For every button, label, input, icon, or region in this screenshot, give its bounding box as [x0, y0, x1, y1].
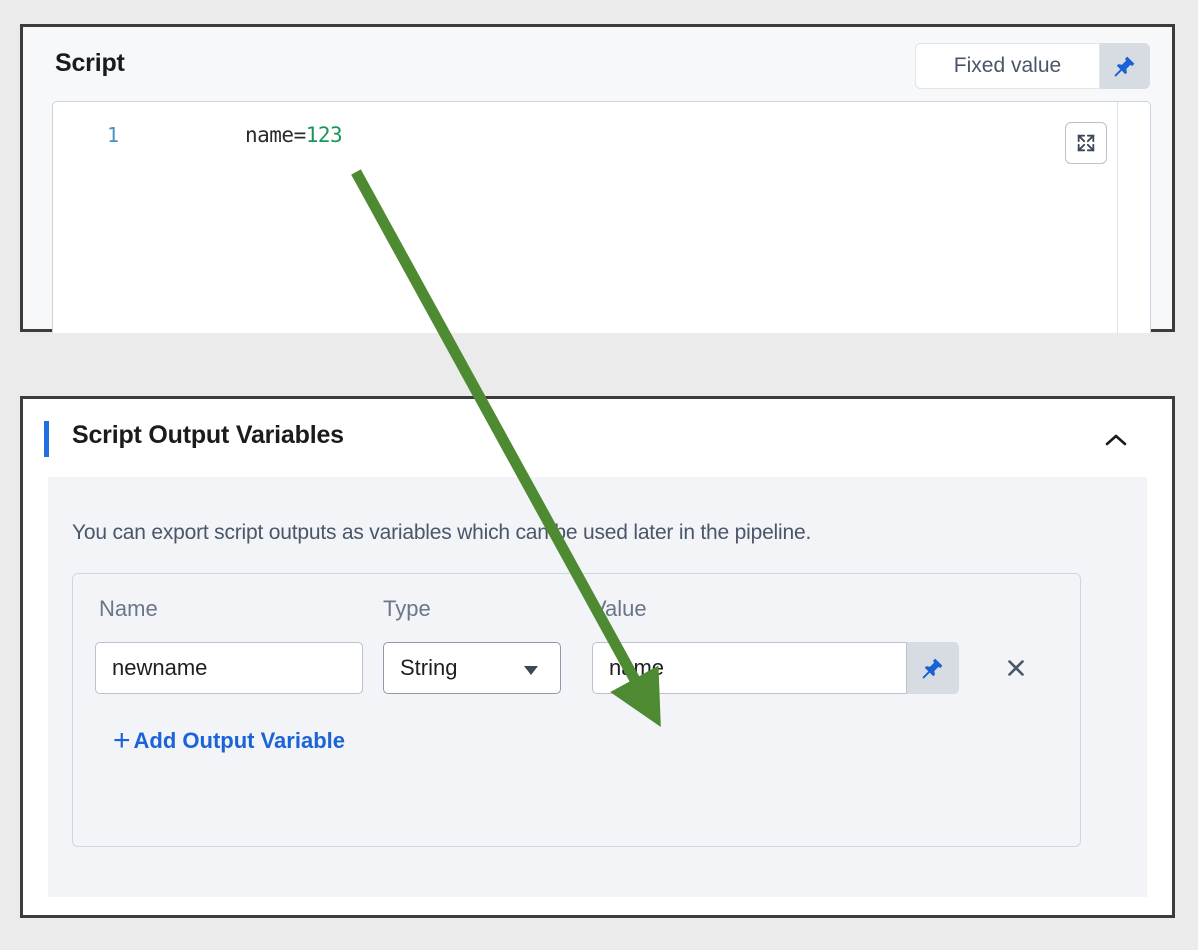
add-output-variable-label: Add Output Variable: [134, 728, 345, 754]
editor-scrollbar[interactable]: [1117, 102, 1150, 333]
column-header-value: Value: [592, 596, 647, 622]
script-code-editor[interactable]: 1 name=123: [52, 101, 1151, 333]
output-variables-body: You can export script outputs as variabl…: [48, 477, 1147, 897]
code-token-value: 123: [306, 123, 342, 147]
chevron-up-icon[interactable]: [1100, 427, 1132, 453]
variable-name-input[interactable]: newname: [95, 642, 363, 694]
chevron-down-icon: [524, 666, 538, 675]
close-icon[interactable]: [993, 642, 1039, 694]
expand-icon[interactable]: [1065, 122, 1107, 164]
pin-icon[interactable]: [1100, 43, 1150, 89]
code-content: name=123: [245, 123, 342, 147]
plus-icon: +: [113, 726, 131, 756]
script-output-variables-panel: Script Output Variables You can export s…: [20, 396, 1175, 918]
fixed-value-button[interactable]: Fixed value: [915, 43, 1100, 89]
variable-type-value: String: [400, 655, 457, 681]
value-mode-group: Fixed value: [915, 43, 1150, 89]
pin-icon[interactable]: [907, 642, 959, 694]
line-number: 1: [53, 123, 119, 147]
add-output-variable-button[interactable]: + Add Output Variable: [113, 726, 345, 756]
section-title: Script Output Variables: [72, 421, 344, 450]
code-token-name: name=: [245, 123, 306, 147]
script-panel: Script Fixed value 1 name=123: [20, 24, 1175, 332]
page-title: Script: [55, 49, 125, 78]
variable-type-select[interactable]: String: [383, 642, 561, 694]
table-column-headers: Name Type Value: [73, 596, 1080, 630]
column-header-name: Name: [99, 596, 158, 622]
code-line: 1 name=123: [53, 118, 342, 152]
output-variables-header[interactable]: Script Output Variables: [23, 399, 1172, 477]
column-header-type: Type: [383, 596, 431, 622]
script-panel-header: Script Fixed value: [23, 27, 1172, 101]
variable-value-input[interactable]: name: [592, 642, 907, 694]
table-row: newname String name: [73, 642, 1080, 694]
section-accent-bar: [44, 421, 49, 457]
section-description: You can export script outputs as variabl…: [72, 521, 811, 545]
output-variables-table: Name Type Value newname String name: [72, 573, 1081, 847]
